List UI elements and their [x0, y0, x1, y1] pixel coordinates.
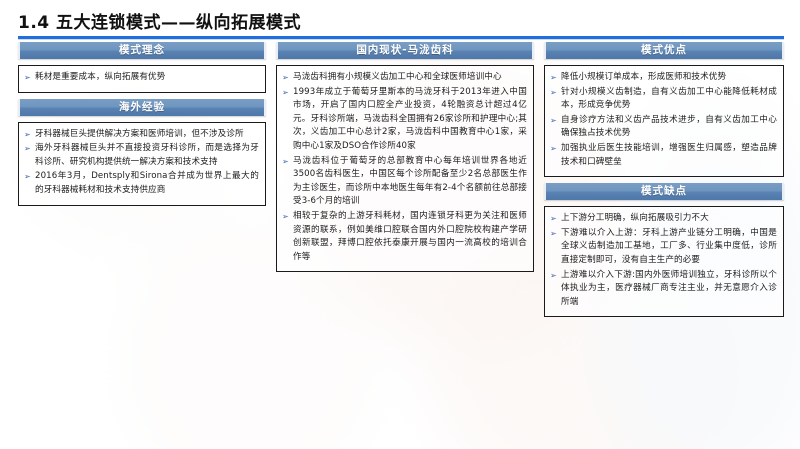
section-heading-mode-disadvantages: 模式缺点 [544, 183, 784, 200]
bullet-item: 1993年成立于葡萄牙里斯本的马泷牙科于2013年进入中国市场，开启了国内口腔全… [282, 86, 527, 154]
bullet-item: 加强执业后医生技能培训，增强医生归属感，塑造品牌技术和口碑壁垒 [550, 142, 777, 169]
section-heading-domestic-status: 国内现状-马泷齿科 [276, 42, 534, 59]
bullet-item: 相较于复杂的上游牙科耗材，国内连锁牙科更为关注和医师资源的联系，例如美维口腔联合… [282, 210, 527, 264]
section-body-mode-concept: 耗材是重要成本，纵向拓展有优势 [18, 65, 266, 93]
bullet-list: 牙科器械巨头提供解决方案和医师培训，但不涉及诊所海外牙科器械巨头并不直接投资牙科… [24, 128, 259, 198]
bullet-item: 上游难以介入下游:国内外医师培训独立，牙科诊所以个体执业为主，医疗器械厂商专注主… [550, 269, 777, 310]
section-body-overseas-experience: 牙科器械巨头提供解决方案和医师培训，但不涉及诊所海外牙科器械巨头并不直接投资牙科… [18, 122, 266, 206]
title-underline-shadow [18, 39, 784, 40]
bullet-item: 2016年3月，Dentsply和Sirona合并成为世界上最大的的牙科器械耗材… [24, 170, 259, 197]
bullet-item: 降低小规模订单成本，形成医师和技术优势 [550, 71, 777, 85]
bullet-list: 耗材是重要成本，纵向拓展有优势 [24, 71, 259, 85]
section-domestic-status: 国内现状-马泷齿科马泷齿科拥有小规模义齿加工中心和全球医师培训中心1993年成立… [276, 42, 534, 272]
section-body-mode-advantages: 降低小规模订单成本，形成医师和技术优势针对小规模义齿制造，自有义齿加工中心能降低… [544, 65, 784, 177]
bullet-item: 自身诊疗方法和义齿产品技术进步，自有义齿加工中心确保独占技术优势 [550, 114, 777, 141]
bullet-list: 降低小规模订单成本，形成医师和技术优势针对小规模义齿制造，自有义齿加工中心能降低… [550, 71, 777, 169]
section-heading-mode-advantages: 模式优点 [544, 42, 784, 59]
page-title: 1.4 五大连锁模式——纵向拓展模式 [18, 8, 301, 33]
section-body-domestic-status: 马泷齿科拥有小规模义齿加工中心和全球医师培训中心1993年成立于葡萄牙里斯本的马… [276, 65, 534, 272]
bullet-item: 马泷齿科位于葡萄牙的总部教育中心每年培训世界各地近3500名齿科医生，中国区每个… [282, 155, 527, 209]
bullet-item: 耗材是重要成本，纵向拓展有优势 [24, 71, 259, 85]
slide-title-bar: 1.4 五大连锁模式——纵向拓展模式 [0, 0, 800, 42]
bullet-item: 针对小规模义齿制造，自有义齿加工中心能降低耗材成本，形成竞争优势 [550, 86, 777, 113]
section-heading-mode-concept: 模式理念 [18, 42, 266, 59]
column-middle: 国内现状-马泷齿科马泷齿科拥有小规模义齿加工中心和全球医师培训中心1993年成立… [276, 42, 534, 278]
section-body-mode-disadvantages: 上下游分工明确，纵向拓展吸引力不大下游难以介入上游：牙科上游产业链分工明确，中国… [544, 206, 784, 317]
bullet-item: 上下游分工明确，纵向拓展吸引力不大 [550, 212, 777, 226]
section-heading-overseas-experience: 海外经验 [18, 99, 266, 116]
section-overseas-experience: 海外经验牙科器械巨头提供解决方案和医师培训，但不涉及诊所海外牙科器械巨头并不直接… [18, 99, 266, 206]
bullet-item: 海外牙科器械巨头并不直接投资牙科诊所，而是选择为牙科诊所、研究机构提供统一解决方… [24, 142, 259, 169]
bullet-item: 马泷齿科拥有小规模义齿加工中心和全球医师培训中心 [282, 71, 527, 85]
bullet-item: 牙科器械巨头提供解决方案和医师培训，但不涉及诊所 [24, 128, 259, 142]
content-board: 模式理念耗材是重要成本，纵向拓展有优势海外经验牙科器械巨头提供解决方案和医师培训… [0, 42, 800, 449]
section-mode-concept: 模式理念耗材是重要成本，纵向拓展有优势 [18, 42, 266, 93]
column-right: 模式优点降低小规模订单成本，形成医师和技术优势针对小规模义齿制造，自有义齿加工中… [544, 42, 784, 323]
section-mode-disadvantages: 模式缺点上下游分工明确，纵向拓展吸引力不大下游难以介入上游：牙科上游产业链分工明… [544, 183, 784, 317]
section-mode-advantages: 模式优点降低小规模订单成本，形成医师和技术优势针对小规模义齿制造，自有义齿加工中… [544, 42, 784, 177]
bullet-list: 上下游分工明确，纵向拓展吸引力不大下游难以介入上游：牙科上游产业链分工明确，中国… [550, 212, 777, 309]
column-left: 模式理念耗材是重要成本，纵向拓展有优势海外经验牙科器械巨头提供解决方案和医师培训… [18, 42, 266, 212]
bullet-list: 马泷齿科拥有小规模义齿加工中心和全球医师培训中心1993年成立于葡萄牙里斯本的马… [282, 71, 527, 264]
bullet-item: 下游难以介入上游：牙科上游产业链分工明确，中国是全球义齿制造加工基地，工厂多、行… [550, 227, 777, 268]
